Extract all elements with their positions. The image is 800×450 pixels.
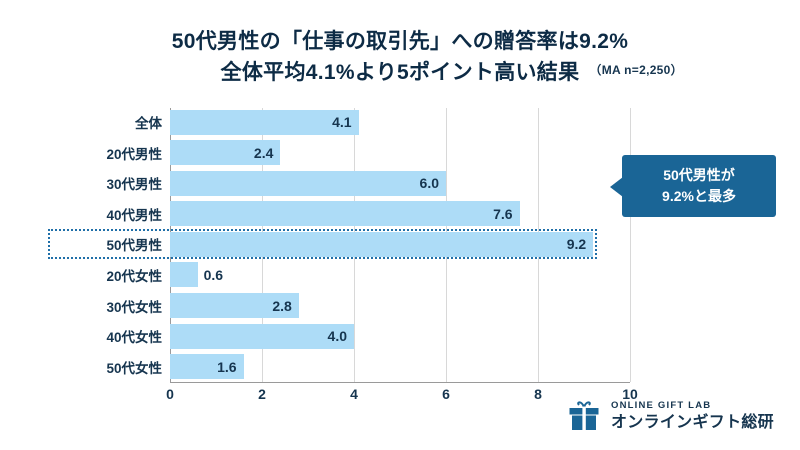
callout-box: 50代男性が 9.2%と最多 (622, 155, 776, 217)
bar-value-label: 4.1 (332, 114, 351, 130)
category-label: 50代女性 (52, 357, 162, 377)
bar-value-label: 4.0 (328, 328, 347, 344)
bar: 1.6 (170, 354, 244, 379)
bar: 2.8 (170, 293, 299, 318)
x-tick-label: 8 (534, 386, 542, 402)
bar: 0.6 (170, 262, 198, 287)
logo-jp-text: オンラインギフト総研 (611, 415, 774, 431)
category-label: 20代女性 (52, 265, 162, 285)
bar-value-label: 2.4 (254, 145, 273, 161)
bar: 7.6 (170, 201, 520, 226)
sample-size-note: （MA n=2,250） (589, 55, 683, 86)
bar: 2.4 (170, 140, 280, 165)
bar-value-label: 9.2 (567, 236, 586, 252)
x-tick-label: 4 (350, 386, 358, 402)
bar: 4.1 (170, 110, 359, 135)
chart-bars: 全体4.120代男性2.430代男性6.040代男性7.650代男性9.220代… (170, 108, 630, 381)
logo-en-text: ONLINE GIFT LAB (611, 401, 711, 411)
bar-value-label: 1.6 (217, 359, 236, 375)
bar-value-label: 0.6 (204, 267, 223, 283)
chart-row: 50代女性1.6 (170, 353, 630, 381)
callout-line-1: 50代男性が (663, 165, 735, 186)
chart-row: 40代男性7.6 (170, 200, 630, 228)
category-label: 40代男性 (52, 204, 162, 224)
chart-row: 50代男性9.2 (170, 230, 630, 258)
category-label: 40代女性 (52, 326, 162, 346)
title-line-2-wrapper: 全体平均4.1%より5ポイント高い結果 （MA n=2,250） (0, 57, 800, 88)
gridline-10 (630, 108, 631, 382)
gift-box-icon (566, 398, 602, 434)
chart-row: 30代男性6.0 (170, 169, 630, 197)
title-line-2: 全体平均4.1%より5ポイント高い結果 (221, 61, 580, 84)
page-title: 50代男性の「仕事の取引先」への贈答率は9.2% 全体平均4.1%より5ポイント… (0, 26, 800, 88)
bar-value-label: 7.6 (493, 206, 512, 222)
bar: 4.0 (170, 324, 354, 349)
chart-row: 30代女性2.8 (170, 292, 630, 320)
slide-canvas: 50代男性の「仕事の取引先」への贈答率は9.2% 全体平均4.1%より5ポイント… (0, 0, 800, 450)
x-tick-label: 6 (442, 386, 450, 402)
category-label: 30代女性 (52, 296, 162, 316)
chart-row: 20代女性0.6 (170, 261, 630, 289)
bar: 9.2 (170, 232, 593, 257)
x-axis-line (170, 382, 630, 383)
category-label: 30代男性 (52, 173, 162, 193)
bar-chart: 全体4.120代男性2.430代男性6.040代男性7.650代男性9.220代… (170, 108, 630, 380)
category-label: 50代男性 (52, 234, 162, 254)
category-label: 20代男性 (52, 143, 162, 163)
x-tick-label: 2 (258, 386, 266, 402)
x-tick-label: 0 (166, 386, 174, 402)
chart-row: 40代女性4.0 (170, 322, 630, 350)
x-axis-tick-labels: 0246810 (170, 386, 630, 406)
bar: 6.0 (170, 171, 446, 196)
callout-line-2: 9.2%と最多 (662, 186, 736, 207)
chart-row: 20代男性2.4 (170, 139, 630, 167)
bar-value-label: 2.8 (272, 298, 291, 314)
chart-row: 全体4.1 (170, 108, 630, 136)
title-line-1: 50代男性の「仕事の取引先」への贈答率は9.2% (0, 26, 800, 57)
bar-value-label: 6.0 (420, 175, 439, 191)
logo-text: ONLINE GIFT LAB オンラインギフト総研 (611, 401, 774, 431)
brand-logo: ONLINE GIFT LAB オンラインギフト総研 (566, 398, 774, 434)
category-label: 全体 (52, 112, 162, 132)
